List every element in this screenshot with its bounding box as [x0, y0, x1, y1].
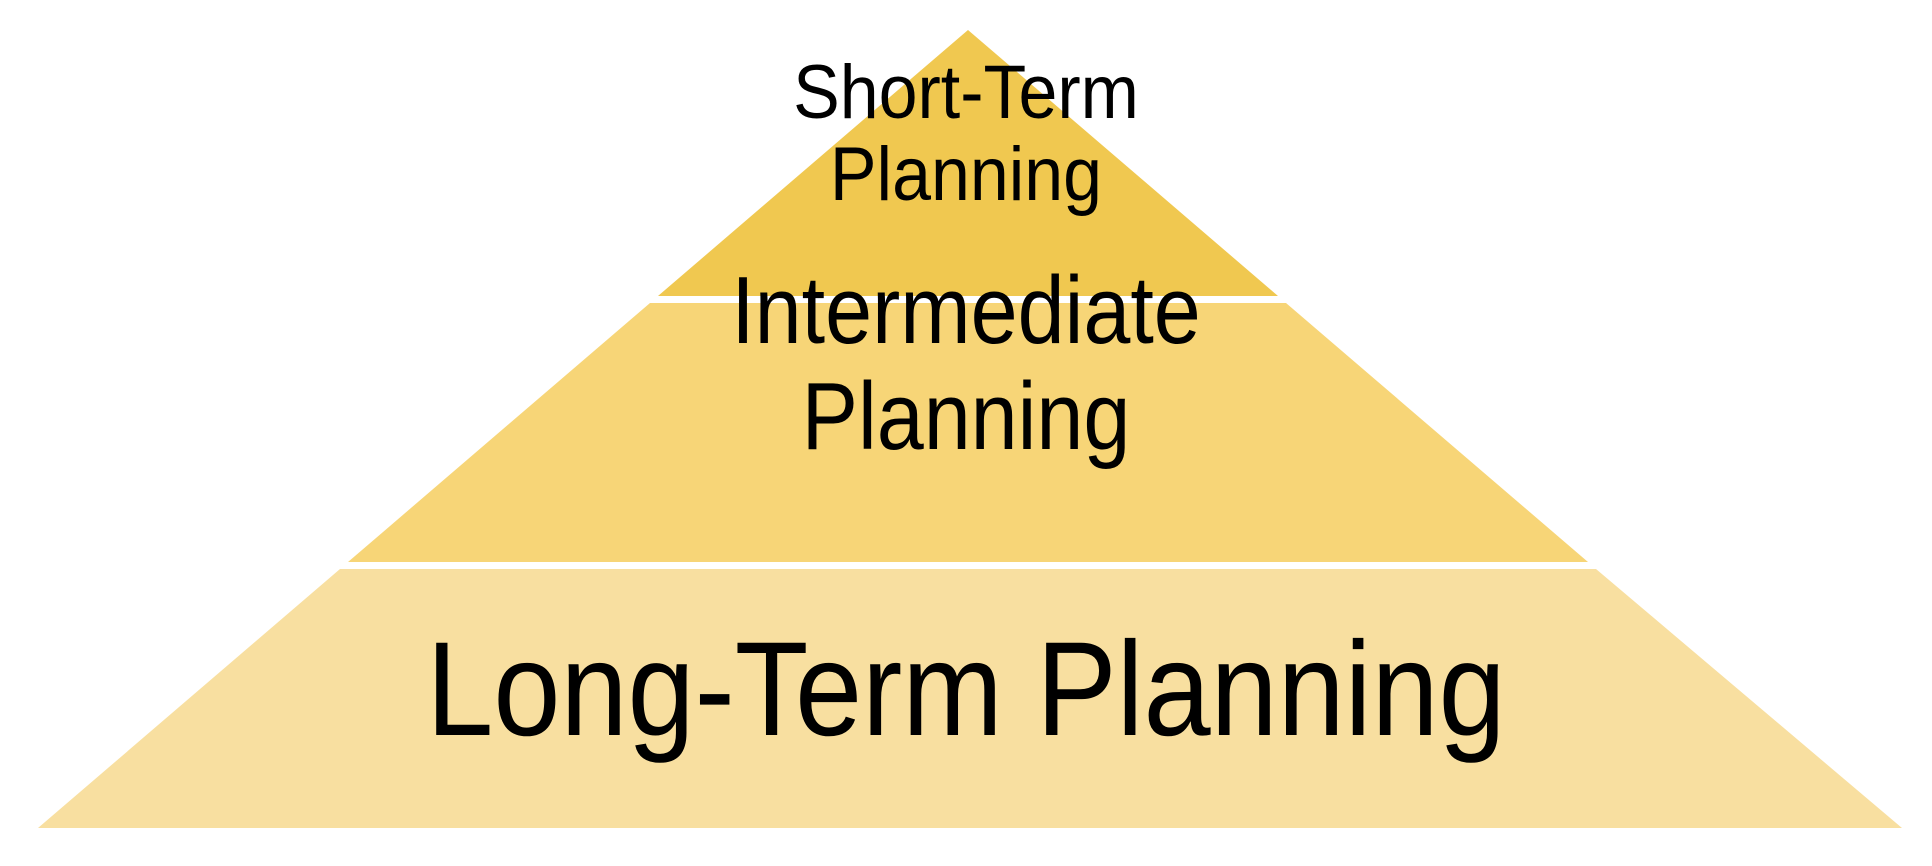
pyramid-diagram: Short-Term Planning Intermediate Plannin…: [0, 0, 1932, 866]
pyramid-tier-3-label: Long-Term Planning: [97, 620, 1836, 760]
pyramid-tier-2-label: Intermediate Planning: [116, 258, 1816, 470]
pyramid-tier-1-label: Short-Term Planning: [77, 52, 1854, 216]
